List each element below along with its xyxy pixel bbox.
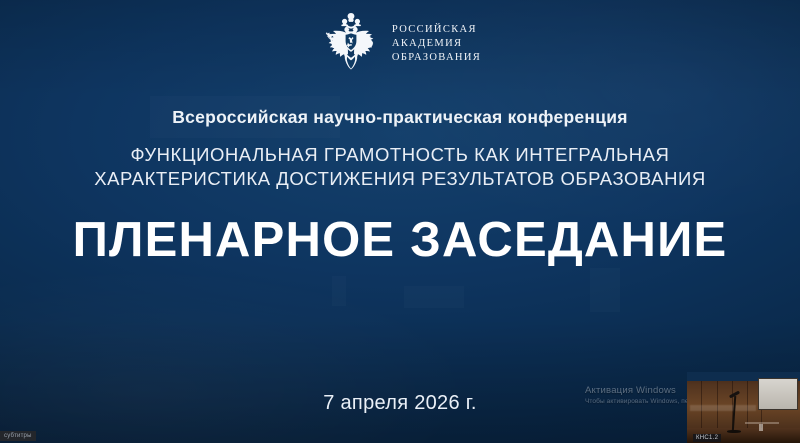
slide-headline: ПЛЕНАРНОЕ ЗАСЕДАНИЕ (0, 216, 800, 265)
double-headed-eagle-emblem (319, 12, 383, 74)
presentation-slide: РОССИЙСКАЯ АКАДЕМИЯ ОБРАЗОВАНИЯ Всеросси… (0, 0, 800, 443)
pip-label: КНС1.2 (693, 434, 721, 442)
subtitle-caption-chip: субтитры (0, 431, 36, 441)
logo-line-1: РОССИЙСКАЯ (392, 24, 481, 35)
logo-line-2: АКАДЕМИЯ (392, 38, 481, 49)
theme-line-1: ФУНКЦИОНАЛЬНАЯ ГРАМОТНОСТЬ КАК ИНТЕГРАЛЬ… (0, 143, 800, 167)
water-glass (759, 424, 763, 431)
projection-screen (758, 378, 798, 410)
conference-theme: ФУНКЦИОНАЛЬНАЯ ГРАМОТНОСТЬ КАК ИНТЕГРАЛЬ… (0, 143, 800, 191)
video-thumbnail-pip[interactable]: КНС1.2 (687, 372, 800, 443)
logo-line-3: ОБРАЗОВАНИЯ (392, 52, 481, 63)
organization-logo: РОССИЙСКАЯ АКАДЕМИЯ ОБРАЗОВАНИЯ (0, 12, 800, 74)
conference-subtitle: Всероссийская научно-практическая конфер… (0, 107, 800, 128)
overlay-text-strip (690, 405, 756, 411)
event-date: 7 апреля 2026 г. (0, 392, 800, 415)
microphone-base (727, 430, 741, 433)
theme-line-2: ХАРАКТЕРИСТИКА ДОСТИЖЕНИЯ РЕЗУЛЬТАТОВ ОБ… (0, 167, 800, 191)
